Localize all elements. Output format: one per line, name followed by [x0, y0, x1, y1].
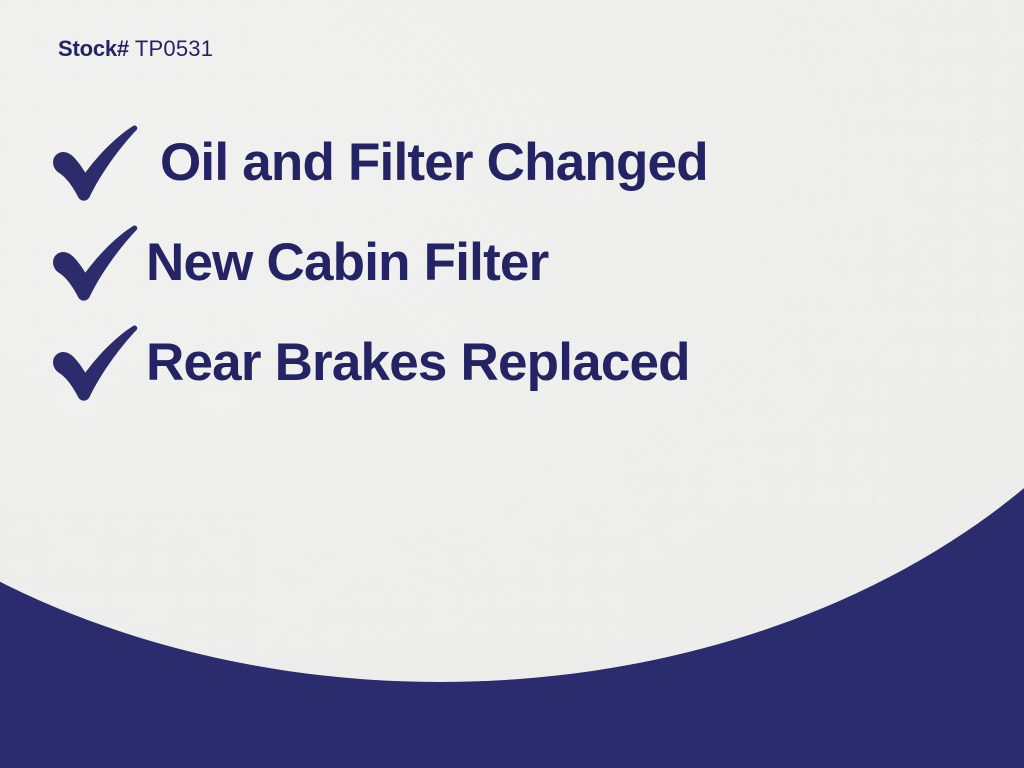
stock-number-value: TP0531 — [135, 36, 213, 61]
stock-number-line: Stock# TP0531 — [58, 36, 213, 62]
check-icon — [52, 223, 138, 301]
list-item: Rear Brakes Replaced — [52, 318, 932, 406]
check-icon — [52, 323, 138, 401]
content-layer: Stock# TP0531 Oil and Filter Changed N — [0, 0, 1024, 768]
list-item: New Cabin Filter — [52, 218, 932, 306]
check-icon — [52, 123, 138, 201]
list-item: Oil and Filter Changed — [52, 118, 932, 206]
list-item-label: Rear Brakes Replaced — [146, 336, 690, 389]
service-checklist: Oil and Filter Changed New Cabin Filter … — [52, 118, 932, 418]
service-checklist-graphic: Stock# TP0531 Oil and Filter Changed N — [0, 0, 1024, 768]
list-item-label: Oil and Filter Changed — [160, 136, 708, 189]
list-item-label: New Cabin Filter — [146, 236, 548, 289]
stock-number-label: Stock# — [58, 36, 129, 61]
